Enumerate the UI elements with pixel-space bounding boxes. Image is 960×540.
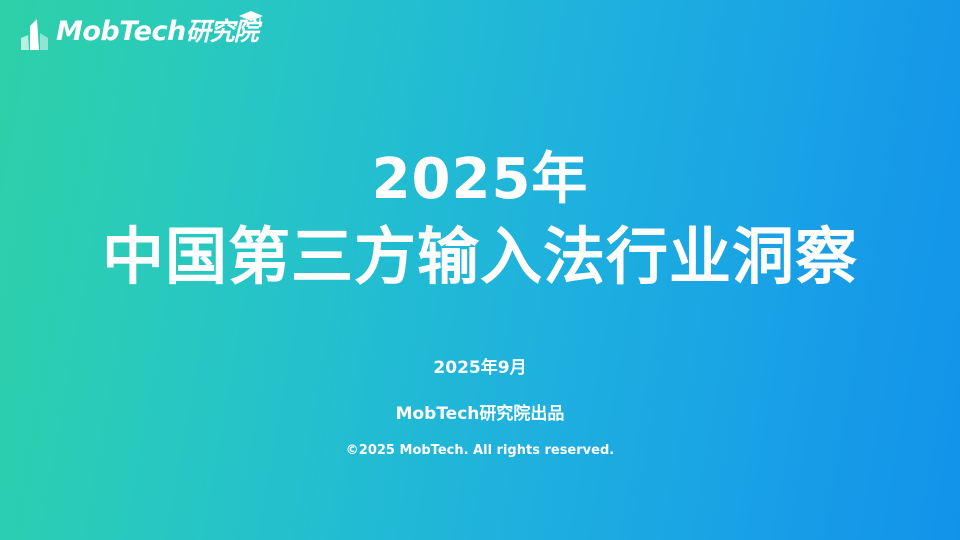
publication-date: 2025年9月 — [433, 356, 526, 380]
copyright-notice: ©2025 MobTech. All rights reserved. — [346, 442, 614, 460]
page-title-main: 中国第三方输入法行业洞察 — [102, 220, 858, 294]
producer-credit: MobTech研究院出品 — [396, 402, 565, 426]
page-title-year: 2025年 — [372, 148, 589, 212]
report-cover-slide: MobTech研究院 2025年 中国第三方输入法行业洞察 2025年9月 Mo… — [0, 0, 960, 540]
cover-content: 2025年 中国第三方输入法行业洞察 2025年9月 MobTech研究院出品 … — [0, 0, 960, 540]
